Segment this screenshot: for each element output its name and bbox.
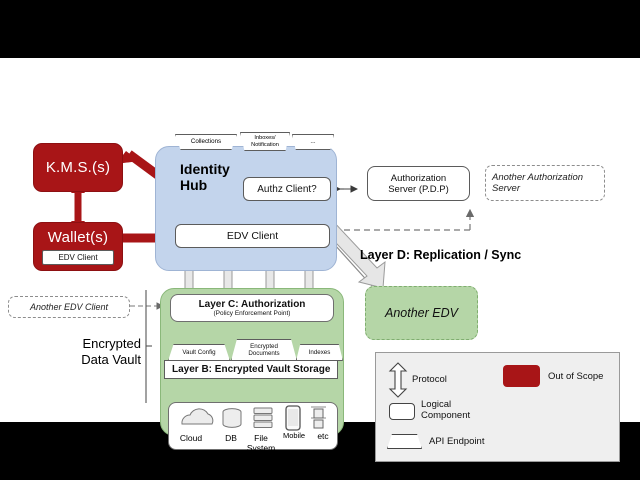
wallet-edv-client-box[interactable]: EDV Client bbox=[42, 250, 114, 265]
storage-label-file-system: File System bbox=[243, 433, 279, 453]
storage-label-cloud: Cloud bbox=[172, 433, 210, 443]
wallet-box[interactable]: Wallet(s) EDV Client bbox=[33, 222, 123, 271]
legend-logical-component-label: Logical Component bbox=[421, 399, 470, 421]
another-authorization-server-box[interactable]: Another Authorization Server bbox=[485, 165, 605, 201]
legend-out-of-scope-icon bbox=[503, 365, 540, 387]
api-endpoint-vault-config[interactable]: Vault Config bbox=[168, 344, 230, 361]
layer-d-label-text: Layer D: Replication / Sync bbox=[360, 248, 521, 262]
authorization-server-line1: Authorization bbox=[391, 173, 446, 184]
wallet-label: Wallet(s) bbox=[48, 229, 108, 246]
encrypted-data-vault-bracket-label: Encrypted Data Vault bbox=[56, 336, 141, 368]
layer-d-label: Layer D: Replication / Sync bbox=[360, 248, 521, 262]
legend-logical-line1: Logical bbox=[421, 399, 470, 410]
authz-client-label: Authz Client? bbox=[257, 184, 316, 195]
api-endpoint-encrypted-documents[interactable]: Encrypted Documents bbox=[231, 339, 297, 361]
api-endpoint-encrypted-documents-line1: Encrypted bbox=[250, 343, 278, 350]
layer-c-subtitle: (Policy Enforcement Point) bbox=[214, 310, 291, 317]
another-edv-client-label: Another EDV Client bbox=[30, 302, 108, 312]
file-system-icon bbox=[254, 408, 272, 428]
layer-a-title: Layer A: Raw Byte Storage bbox=[175, 454, 315, 466]
legend-protocol-icon bbox=[388, 363, 408, 397]
layer-c-box[interactable]: Layer C: Authorization (Policy Enforceme… bbox=[170, 294, 334, 322]
database-icon bbox=[223, 409, 241, 428]
another-authorization-server-line2: Server bbox=[492, 183, 520, 194]
api-endpoint-indexes-label: Indexes bbox=[309, 349, 331, 356]
tab-more-label: ... bbox=[310, 138, 315, 145]
etc-icon bbox=[311, 407, 326, 428]
legend-protocol-label: Protocol bbox=[412, 374, 447, 385]
layer-c-title: Layer C: Authorization bbox=[199, 299, 306, 310]
legend-logical-line2: Component bbox=[421, 410, 470, 421]
identity-hub-title: Identity Hub bbox=[180, 161, 230, 193]
storage-label-mobile: Mobile bbox=[276, 431, 312, 440]
tab-inboxes-notification[interactable]: Inboxes/ Notification bbox=[240, 132, 290, 151]
another-edv-client-box[interactable]: Another EDV Client bbox=[8, 296, 130, 318]
cloud-icon bbox=[182, 409, 213, 424]
legend-logical-component-icon bbox=[389, 403, 415, 420]
another-edv-label: Another EDV bbox=[385, 306, 458, 320]
edv-client-label: EDV Client bbox=[227, 230, 278, 242]
authz-client-box[interactable]: Authz Client? bbox=[243, 177, 331, 201]
storage-label-etc: etc bbox=[310, 431, 336, 441]
wallet-edv-client-label: EDV Client bbox=[58, 253, 97, 262]
legend-api-endpoint-label: API Endpoint bbox=[429, 436, 484, 447]
tab-inboxes-label-line2: Notification bbox=[251, 142, 279, 148]
vault-label-line2: Data Vault bbox=[56, 352, 141, 368]
mobile-icon bbox=[286, 406, 300, 430]
vault-label-line1: Encrypted bbox=[56, 336, 141, 352]
storage-label-db: DB bbox=[218, 433, 244, 443]
another-authorization-server-line1: Another Authorization bbox=[492, 172, 583, 183]
api-endpoint-indexes[interactable]: Indexes bbox=[296, 344, 343, 361]
identity-hub-title-line1: Identity bbox=[180, 161, 230, 177]
authorization-server-box[interactable]: Authorization Server (P.D.P) bbox=[367, 166, 470, 201]
storage-label-system: System bbox=[243, 443, 279, 453]
screenshot-stage: K.M.S.(s) Wallet(s) EDV Client Collectio… bbox=[0, 0, 640, 480]
tab-more[interactable]: ... bbox=[292, 134, 334, 150]
tab-collections-label: Collections bbox=[191, 138, 221, 145]
diagram-canvas: K.M.S.(s) Wallet(s) EDV Client Collectio… bbox=[0, 58, 640, 422]
layer-b-title: Layer B: Encrypted Vault Storage bbox=[172, 364, 330, 375]
tab-collections[interactable]: Collections bbox=[175, 134, 237, 150]
layer-b-box[interactable]: Layer B: Encrypted Vault Storage bbox=[164, 360, 338, 379]
kms-box[interactable]: K.M.S.(s) bbox=[33, 143, 123, 192]
api-endpoint-encrypted-documents-line2: Documents bbox=[248, 350, 279, 357]
legend-out-of-scope-label: Out of Scope bbox=[548, 371, 603, 382]
api-endpoint-vault-config-label: Vault Config bbox=[182, 349, 215, 356]
legend-api-endpoint-icon bbox=[387, 434, 422, 449]
edv-client-box[interactable]: EDV Client bbox=[175, 224, 330, 248]
another-edv-box[interactable]: Another EDV bbox=[365, 286, 478, 340]
kms-label: K.M.S.(s) bbox=[46, 159, 110, 176]
identity-hub-title-line2: Hub bbox=[180, 177, 230, 193]
storage-label-file: File bbox=[243, 433, 279, 443]
authorization-server-line2: Server (P.D.P) bbox=[388, 184, 449, 195]
